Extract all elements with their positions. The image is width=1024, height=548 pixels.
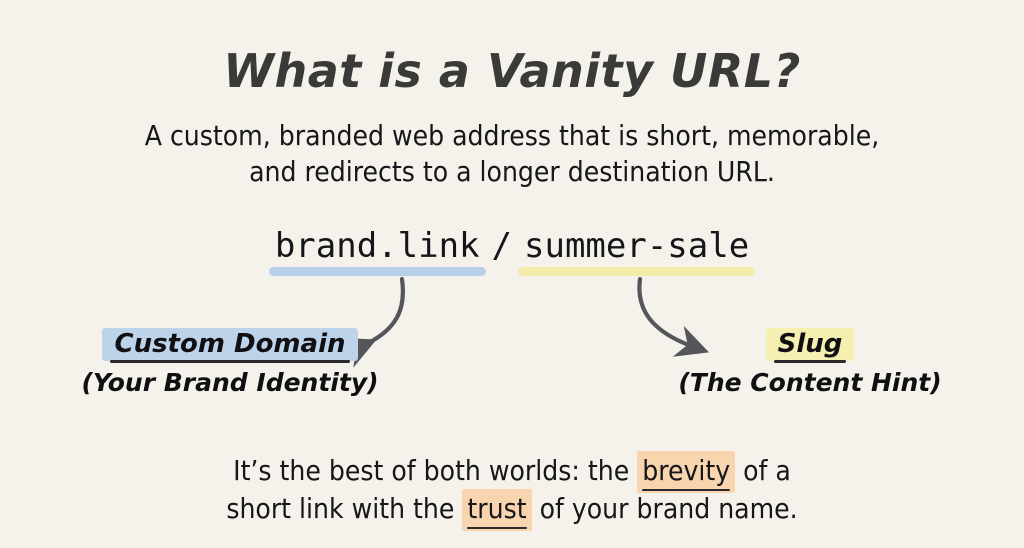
subtitle-line-2: and redirects to a longer destination UR… [0, 154, 1024, 190]
footer-line-1-after: of a [743, 454, 791, 487]
footer-mark-trust-underline [467, 527, 526, 529]
callout-left-keyword: Custom Domain [102, 327, 357, 361]
callout-left-description: (Your Brand Identity) [60, 368, 400, 398]
footer-line-2: short link with the trust of your brand … [0, 490, 1024, 528]
footer-summary: It’s the best of both worlds: the brevit… [0, 452, 1024, 528]
footer-mark-trust: trust [462, 490, 531, 528]
url-slug-segment[interactable]: summer-sale [522, 226, 751, 266]
callout-left-underline [110, 360, 349, 363]
footer-line-2-before: short link with the [226, 492, 454, 525]
footer-mark-trust-text: trust [467, 492, 526, 525]
callout-right-keyword: Slug [766, 327, 855, 361]
callout-right-keyword-text: Slug [778, 329, 843, 359]
url-domain-segment[interactable]: brand.link [273, 226, 482, 266]
subtitle-line-1: A custom, branded web address that is sh… [145, 119, 880, 152]
url-separator: / [482, 226, 522, 266]
footer-line-1-before: It’s the best of both worlds: the [233, 454, 629, 487]
footer-mark-brevity-underline [642, 489, 730, 491]
callout-slug: Slug (The Content Hint) [650, 327, 970, 398]
callout-right-underline [774, 360, 847, 363]
subtitle: A custom, branded web address that is sh… [0, 118, 1024, 190]
footer-line-2-after: of your brand name. [540, 492, 798, 525]
infographic-canvas: What is a Vanity URL? A custom, branded … [0, 0, 1024, 548]
callout-right-description: (The Content Hint) [650, 368, 970, 398]
footer-mark-brevity: brevity [637, 452, 735, 490]
callout-left-keyword-text: Custom Domain [114, 329, 345, 359]
callout-custom-domain: Custom Domain (Your Brand Identity) [60, 327, 400, 398]
url-example: brand.link/summer-sale [0, 226, 1024, 266]
footer-mark-brevity-text: brevity [642, 454, 730, 487]
page-title: What is a Vanity URL? [0, 44, 1024, 98]
footer-line-1: It’s the best of both worlds: the brevit… [233, 454, 791, 487]
